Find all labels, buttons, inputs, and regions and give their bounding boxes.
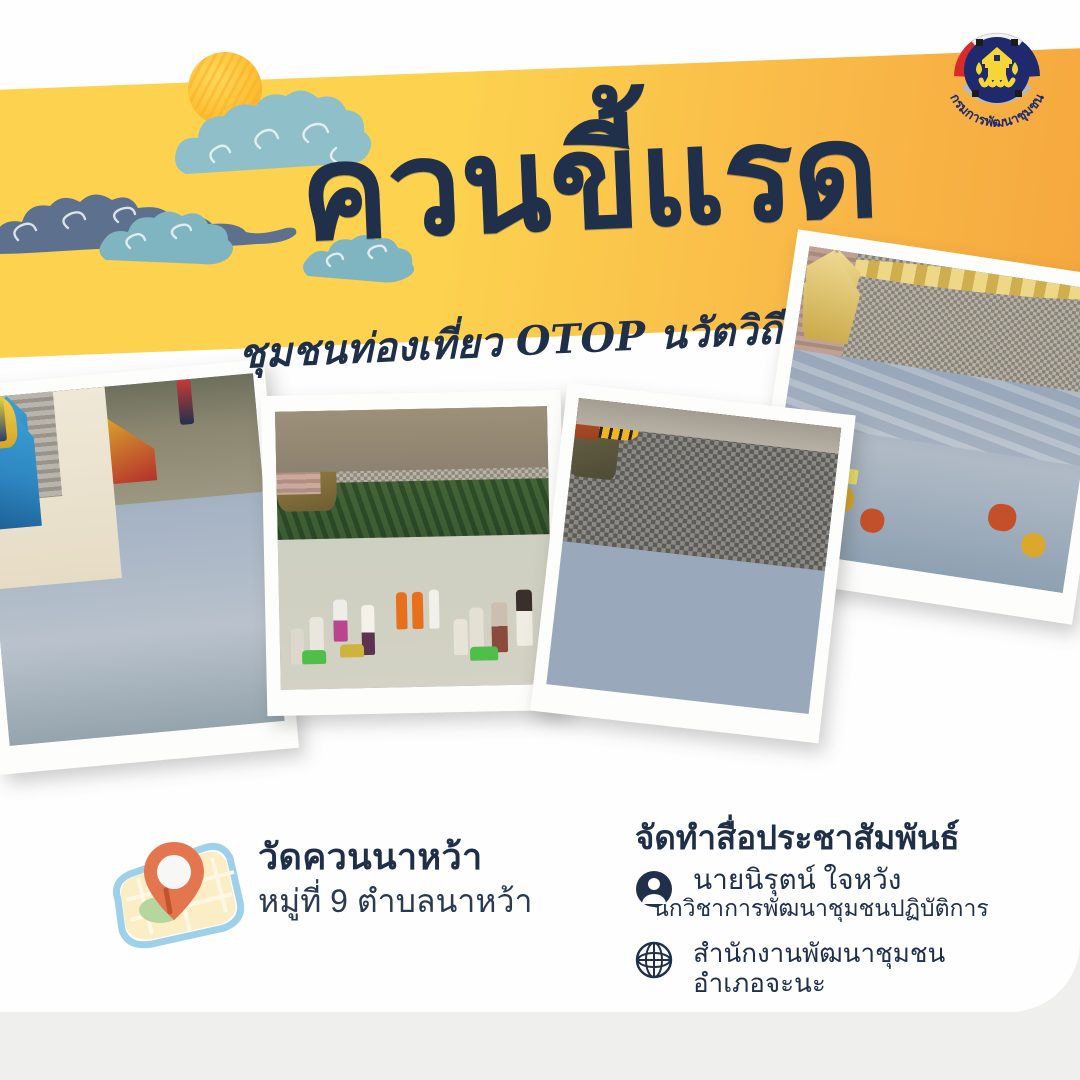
photo-hermit-statues[interactable]: [530, 383, 855, 744]
cdd-department-logo: กรมการพัฒนาชุมชน: [936, 14, 1058, 132]
photo-merit-ceremony-image: [275, 406, 553, 690]
credit-office: สำนักงานพัฒนาชุมชนอำเภอจะนะ: [635, 935, 1015, 999]
globe-icon: [635, 941, 673, 979]
credit-person-role: นักวิชาการพัฒนาชุมชนปฏิบัติการ: [635, 895, 1015, 921]
sun-icon: [188, 52, 262, 126]
location-text: วัดควนนาหว้า หมู่ที่ 9 ตำบลนาหว้า: [258, 836, 532, 921]
photo-temple-ubosot-image: [0, 373, 285, 746]
credit-person-name: นายนิรุตน์ ใจหวัง: [635, 864, 1015, 895]
page-title: ควนขี้แรด: [298, 105, 943, 258]
photo-hermit-statues-image: [546, 398, 841, 714]
location-address: หมู่ที่ 9 ตำบลนาหว้า: [258, 882, 532, 920]
location-block: วัดควนนาหว้า หมู่ที่ 9 ตำบลนาหว้า: [108, 830, 568, 970]
credit-office-row: สำนักงานพัฒนาชุมชนอำเภอจะนะ: [635, 935, 1015, 999]
map-pin-icon: [108, 838, 244, 950]
person-icon: [635, 870, 673, 908]
credit-block: จัดทำสื่อประชาสัมพันธ์ นายนิรุตน์ ใจหวัง…: [635, 818, 1015, 999]
photo-merit-ceremony[interactable]: [261, 390, 568, 716]
credit-heading: จัดทำสื่อประชาสัมพันธ์: [635, 818, 1015, 858]
poster-root: ควนขี้แรด ชุมชนท่องเที่ยว OTOP นวัตวิถี: [0, 0, 1080, 1080]
credit-person-row: นายนิรุตน์ ใจหวัง นักวิชาการพัฒนาชุมชนปฏ…: [635, 864, 1015, 922]
location-name: วัดควนนาหว้า: [258, 836, 532, 878]
photo-temple-ubosot[interactable]: [0, 359, 299, 775]
